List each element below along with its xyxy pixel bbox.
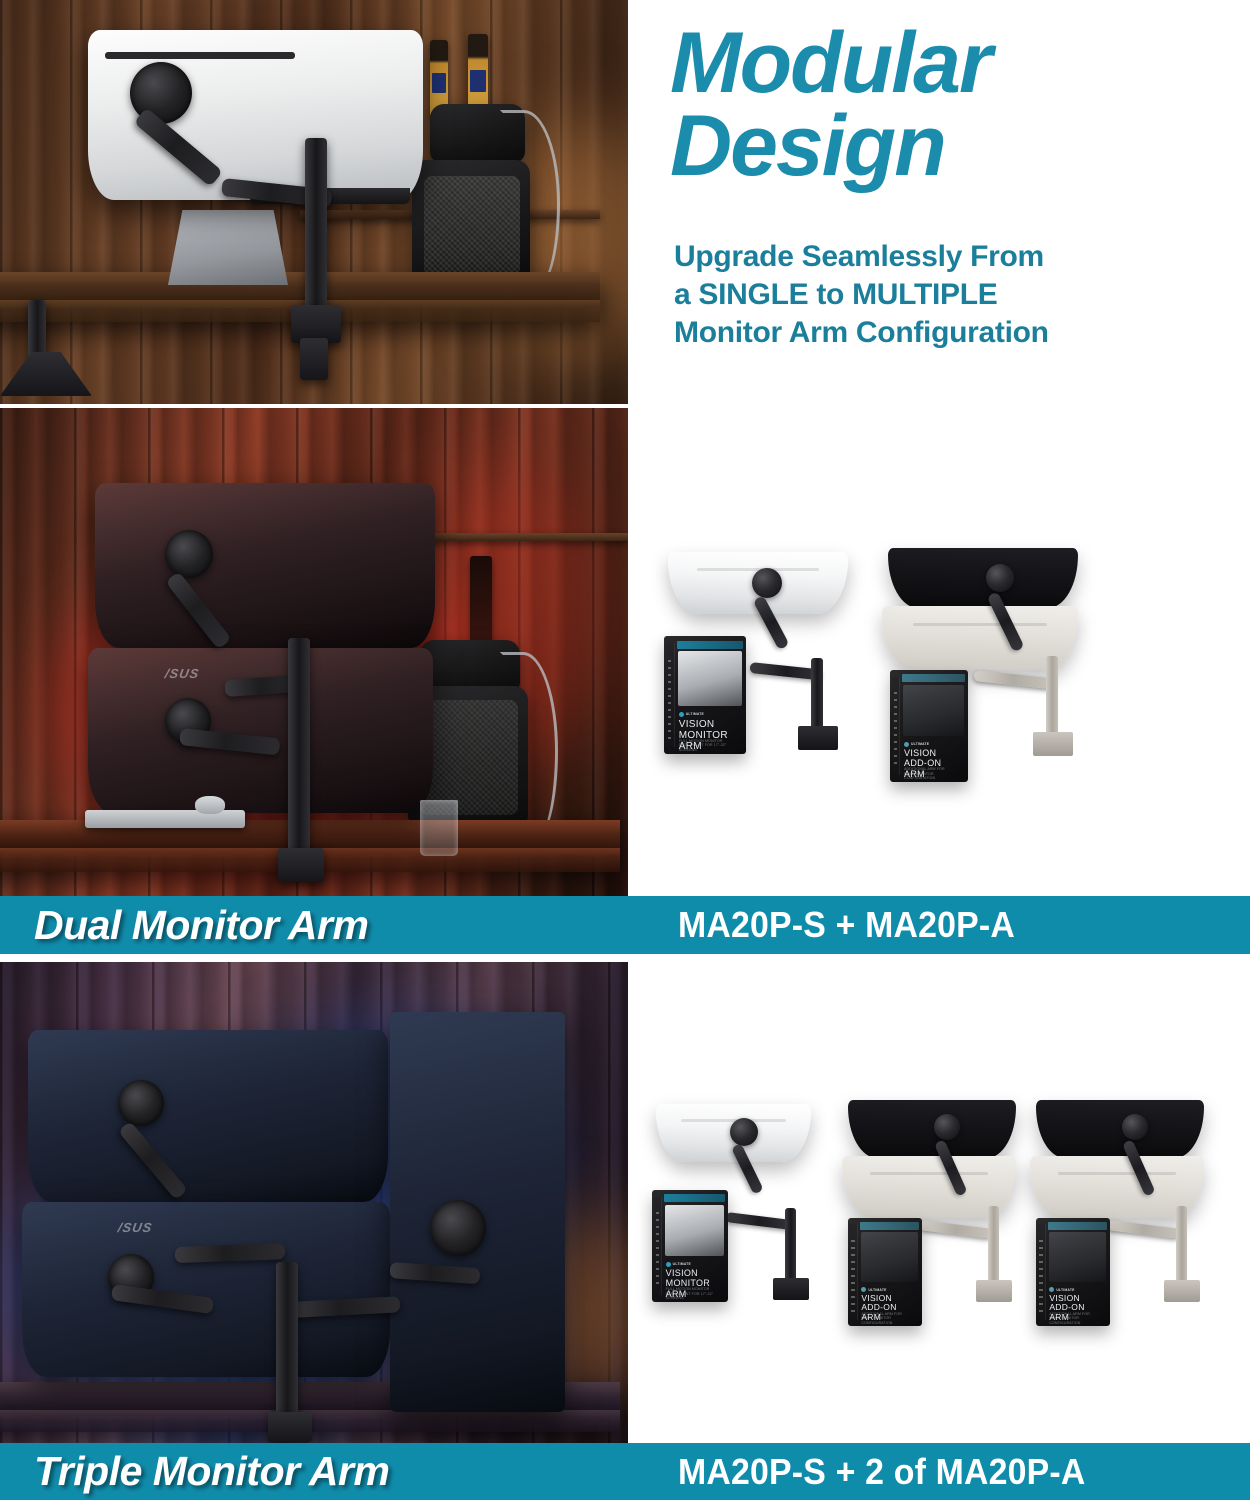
box-brand-name: ULTIMATE — [673, 1262, 691, 1266]
product-item-add-on-arm: ULTIMATE VISION ADD-ON ARM ADDITIONAL AR… — [840, 1094, 1050, 1354]
banner-label-triple: Triple Monitor Arm — [34, 1451, 389, 1492]
retail-box-add-on-arm: ULTIMATE VISION ADD-ON ARM ADDITIONAL AR… — [1036, 1218, 1110, 1326]
desk-clamp-render-grey — [1033, 732, 1073, 756]
desk-clamp-render — [798, 726, 838, 750]
product-item-add-on-arm: ULTIMATE VISION ADD-ON ARM ADDITIONAL AR… — [878, 544, 1138, 794]
monitor-render-black — [848, 1100, 1016, 1158]
right-content-column: Modular Design Upgrade Seamlessly From a… — [628, 0, 1250, 1500]
scene-dual: /SUS — [0, 408, 628, 900]
vesa-hub-render — [1122, 1114, 1148, 1140]
box-fineprint: ADDITIONAL ARM FOR MULTI MONITOR CONFIGU… — [1049, 1312, 1098, 1325]
monitor-vent-line — [870, 1172, 988, 1175]
desk-clamp — [278, 848, 324, 882]
laptop — [168, 210, 288, 285]
box-window — [861, 1232, 919, 1282]
banner-sku-dual: MA20P-S + MA20P-A — [678, 907, 1015, 943]
box-brand-logo: ULTIMATE — [666, 1262, 691, 1267]
box-brand-logo: ULTIMATE — [679, 712, 704, 717]
monitor-render-black — [888, 548, 1078, 608]
monitor-vent-line — [1058, 1172, 1176, 1175]
desk-clamp — [268, 1412, 312, 1442]
box-brand-logo: ULTIMATE — [904, 742, 929, 747]
arm-vertical-post — [305, 138, 327, 318]
vesa-mount-hub-side — [430, 1200, 486, 1256]
vesa-hub-render — [752, 568, 782, 598]
brand-dot-icon — [904, 742, 909, 747]
banner-sku-triple: MA20P-S + 2 of MA20P-A — [678, 1454, 1085, 1490]
product-item-monitor-arm: ULTIMATE VISION MONITOR ARM FULL MOTION … — [658, 540, 898, 790]
brand-dot-icon — [861, 1287, 866, 1292]
dual-config-product-group: ULTIMATE VISION MONITOR ARM FULL MOTION … — [628, 540, 1250, 790]
box-fineprint: ADDITIONAL ARM FOR MULTI MONITOR CONFIGU… — [904, 767, 956, 780]
product-item-add-on-arm: ULTIMATE VISION ADD-ON ARM ADDITIONAL AR… — [1028, 1094, 1238, 1354]
asus-logo: /SUS — [164, 666, 201, 681]
box-top-band — [677, 641, 743, 649]
wall-shelf — [430, 533, 628, 541]
monitor-top-curved — [95, 483, 435, 648]
photo-single-monitor-setup — [0, 0, 628, 404]
asus-logo: /SUS — [117, 1220, 154, 1235]
vesa-mount-hub-top — [165, 530, 213, 578]
brand-dot-icon — [1049, 1287, 1054, 1292]
clamp-screw — [300, 338, 328, 380]
arm-segment-lower — [725, 1212, 792, 1230]
box-fineprint: FULL MOTION MONITOR DESK MOUNT FOR 17"-3… — [679, 739, 733, 752]
retail-box-monitor-arm: ULTIMATE VISION MONITOR ARM FULL MOTION … — [664, 636, 746, 754]
box-window — [1049, 1232, 1107, 1282]
arm-segment-lower-grey — [919, 1220, 992, 1239]
retail-box-add-on-arm: ULTIMATE VISION ADD-ON ARM ADDITIONAL AR… — [890, 670, 968, 782]
vesa-hub-render — [934, 1114, 960, 1140]
box-spine — [849, 1224, 857, 1319]
mouse — [195, 796, 225, 814]
marketing-infographic: /SUS /SUS — [0, 0, 1250, 1500]
arm-post — [785, 1208, 796, 1288]
box-fineprint: FULL MOTION MONITOR DESK MOUNT FOR 17"-3… — [666, 1287, 716, 1300]
product-item-monitor-arm: ULTIMATE VISION MONITOR ARM FULL MOTION … — [648, 1090, 848, 1350]
box-brand-logo: ULTIMATE — [861, 1287, 886, 1292]
box-brand-name: ULTIMATE — [868, 1288, 886, 1292]
box-top-band — [902, 674, 964, 682]
box-spine — [666, 643, 675, 747]
banner-dual-monitor-arm: Dual Monitor Arm MA20P-S + MA20P-A — [0, 896, 1250, 954]
box-top-band — [1048, 1222, 1107, 1230]
banner-triple-monitor-arm: Triple Monitor Arm MA20P-S + 2 of MA20P-… — [0, 1443, 1250, 1500]
scene-single — [0, 0, 628, 404]
box-window — [903, 685, 964, 737]
desk-clamp-render-grey — [976, 1280, 1012, 1302]
vesa-hub-render — [986, 564, 1014, 592]
box-spine — [892, 677, 901, 776]
banner-label-dual: Dual Monitor Arm — [34, 905, 368, 946]
monitor-bottom-curved — [88, 648, 433, 813]
desk-clamp-render-grey — [1164, 1280, 1200, 1302]
scene-triple: /SUS — [0, 962, 628, 1448]
monitor-bottom-curved — [22, 1202, 390, 1377]
triple-config-product-group: ULTIMATE VISION MONITOR ARM FULL MOTION … — [628, 1090, 1250, 1350]
box-window — [678, 651, 742, 705]
brand-dot-icon — [679, 712, 684, 717]
box-fineprint: ADDITIONAL ARM FOR MULTI MONITOR CONFIGU… — [861, 1312, 910, 1325]
box-brand-logo: ULTIMATE — [1049, 1287, 1074, 1292]
page-title: Modular Design — [670, 22, 1230, 187]
box-spine — [1037, 1224, 1045, 1319]
page-subtitle: Upgrade Seamlessly From a SINGLE to MULT… — [674, 238, 1234, 352]
box-top-band — [664, 1194, 725, 1202]
arm-vertical-post — [276, 1262, 298, 1422]
box-window — [665, 1205, 724, 1257]
arm-segment-lower-grey — [1107, 1220, 1180, 1239]
desk-clamp-render — [773, 1278, 809, 1300]
monitor-render-black — [1036, 1100, 1204, 1158]
keyboard — [85, 810, 245, 828]
monitor-top-curved — [28, 1030, 388, 1202]
vesa-mount-hub-top — [118, 1080, 164, 1126]
photo-triple-monitor-setup: /SUS — [0, 962, 628, 1448]
box-brand-name: ULTIMATE — [911, 742, 929, 746]
monitor-vent-slot — [105, 52, 295, 59]
brand-dot-icon — [666, 1262, 671, 1267]
vesa-hub-render — [730, 1118, 758, 1146]
box-brand-name: ULTIMATE — [686, 712, 704, 716]
drinking-glass — [420, 800, 458, 856]
retail-box-add-on-arm: ULTIMATE VISION ADD-ON ARM ADDITIONAL AR… — [848, 1218, 922, 1326]
arm-segment-lower-grey — [973, 670, 1052, 689]
photo-dual-monitor-setup: /SUS — [0, 408, 628, 900]
box-spine — [654, 1197, 662, 1296]
monitor-vent-line — [913, 623, 1046, 626]
retail-box-monitor-arm: ULTIMATE VISION MONITOR ARM FULL MOTION … — [652, 1190, 728, 1302]
arm-post-grey — [1046, 656, 1058, 744]
box-top-band — [860, 1222, 919, 1230]
arm-vertical-post — [288, 638, 310, 853]
box-brand-name: ULTIMATE — [1056, 1288, 1074, 1292]
